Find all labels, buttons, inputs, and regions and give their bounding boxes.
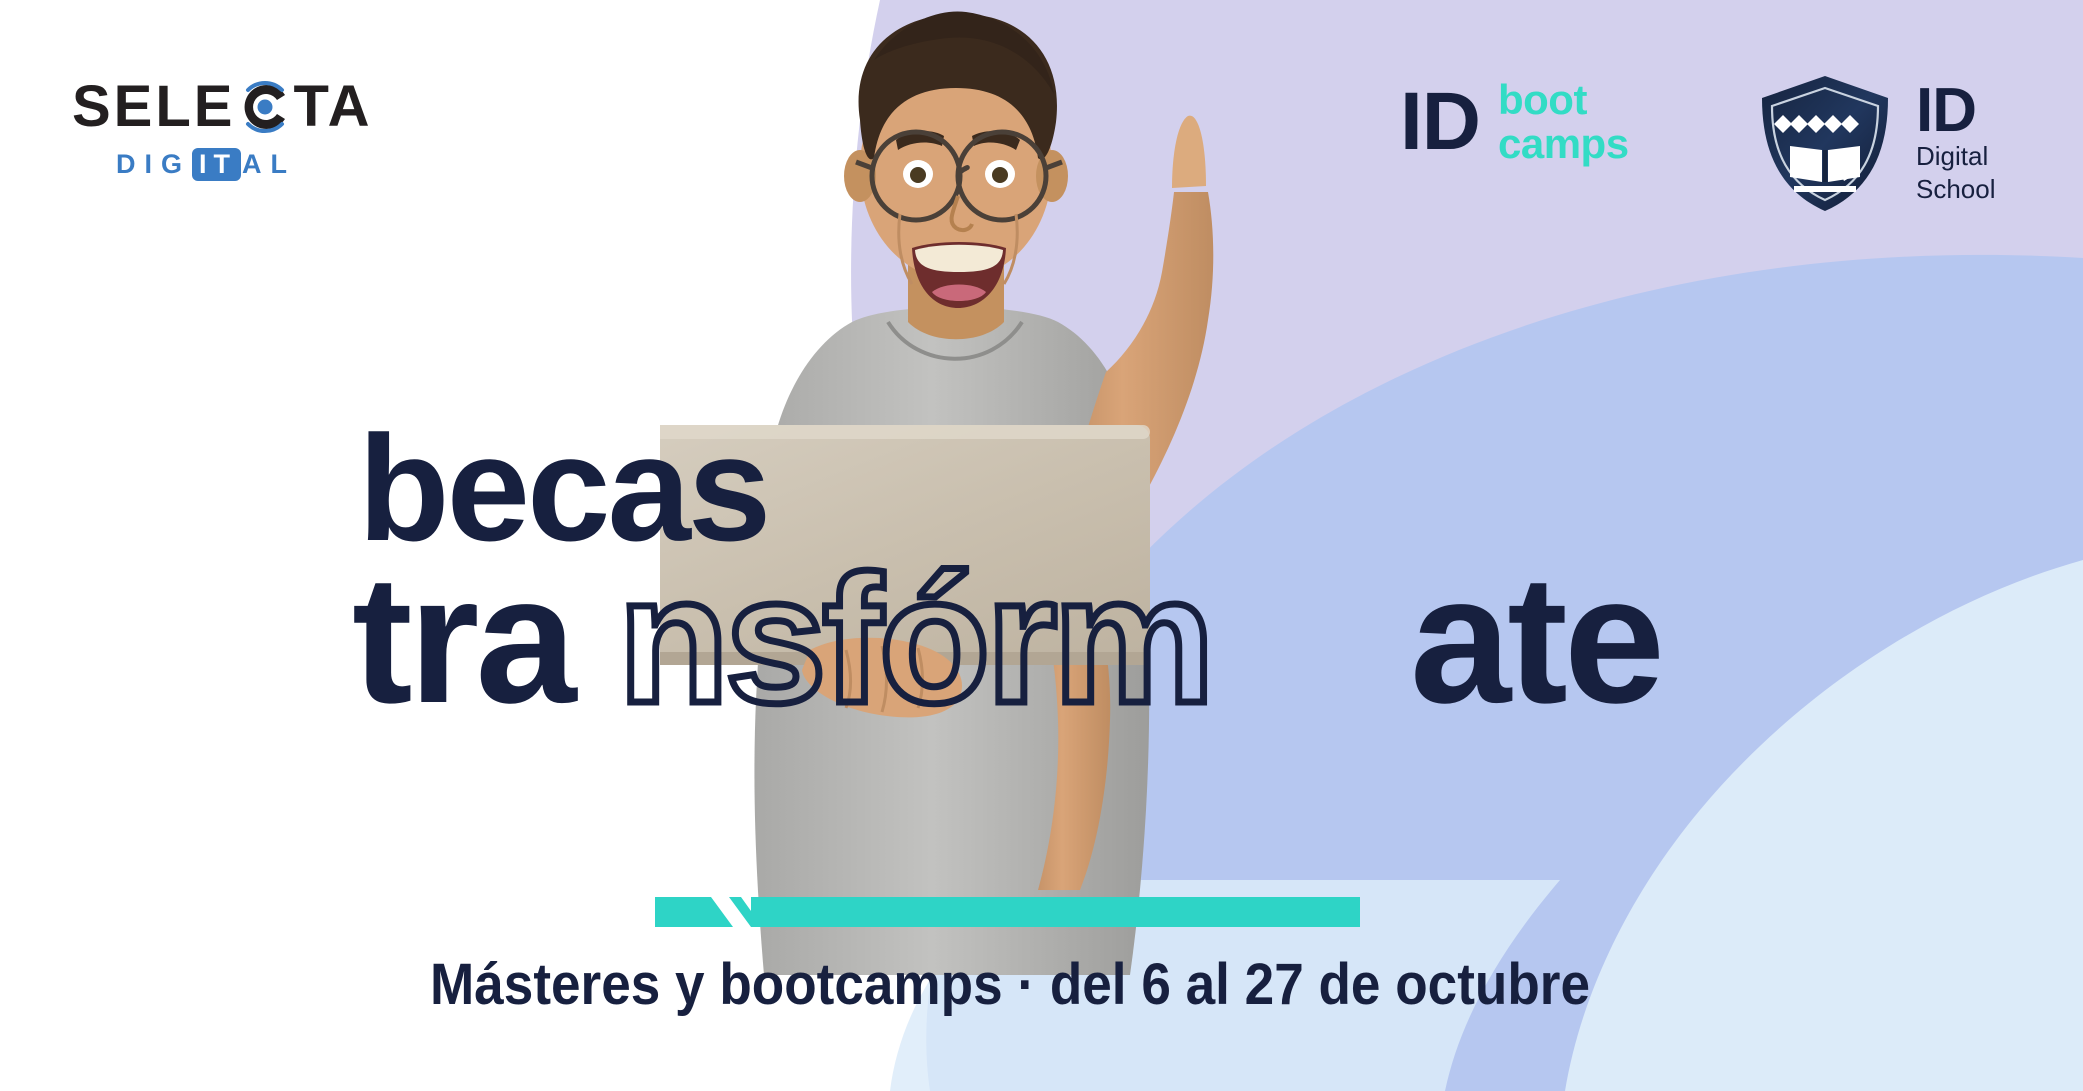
idschool-line1: Digital bbox=[1916, 142, 1996, 171]
digital-suffix: AL bbox=[242, 151, 296, 178]
person-illustration-svg bbox=[660, 0, 1420, 1000]
pointing-finger bbox=[1172, 116, 1206, 188]
selecta-letters-after: TA bbox=[294, 78, 373, 136]
idboot-mark: ID bbox=[1400, 83, 1480, 161]
person-teeth bbox=[915, 245, 1003, 272]
selecta-letters-before: SELE bbox=[72, 78, 236, 136]
laptop bbox=[660, 425, 1150, 665]
teal-accent-rule bbox=[655, 897, 1360, 927]
idschool-mark: ID bbox=[1916, 82, 1996, 139]
idschool-wordmark: ID Digital School bbox=[1916, 82, 1996, 203]
subtitle-svg: Másteres y bootcamps · del 6 al 27 de oc… bbox=[430, 952, 1680, 1022]
shield-base-bar bbox=[1794, 186, 1856, 192]
hero-photo bbox=[660, 0, 1420, 1000]
selecta-digital-wordmark: DIG IT AL bbox=[116, 148, 372, 181]
subtitle-text: Másteres y bootcamps · del 6 al 27 de oc… bbox=[430, 952, 1590, 1017]
teal-rule-svg bbox=[655, 897, 1360, 927]
digital-it-highlight: IT bbox=[192, 148, 241, 181]
open-book-icon bbox=[1790, 146, 1860, 182]
selecta-target-svg bbox=[237, 79, 293, 135]
person-pupil-right bbox=[992, 167, 1008, 183]
person-pupil-left bbox=[910, 167, 926, 183]
laptop-edge-highlight bbox=[660, 425, 1150, 439]
idboot-line1: boot bbox=[1498, 78, 1629, 122]
logo-id-digital-school[interactable]: ID Digital School bbox=[1750, 68, 1996, 218]
digital-prefix: DIG bbox=[116, 151, 191, 178]
selecta-target-icon bbox=[237, 79, 293, 135]
promo-banner: SELE TA DIG IT AL ID boot camps bbox=[0, 0, 2083, 1091]
teal-rule-bar bbox=[655, 897, 1360, 927]
idschool-line2: School bbox=[1916, 175, 1996, 204]
idboot-wordmark: boot camps bbox=[1498, 78, 1629, 166]
logo-id-bootcamps[interactable]: ID boot camps bbox=[1400, 78, 1629, 166]
subtitle-block: Másteres y bootcamps · del 6 al 27 de oc… bbox=[430, 952, 1680, 1022]
logo-selecta-digital[interactable]: SELE TA DIG IT AL bbox=[72, 78, 372, 181]
selecta-wordmark: SELE TA bbox=[72, 78, 372, 136]
shield-icon bbox=[1750, 68, 1900, 218]
idboot-line2: camps bbox=[1498, 122, 1629, 166]
